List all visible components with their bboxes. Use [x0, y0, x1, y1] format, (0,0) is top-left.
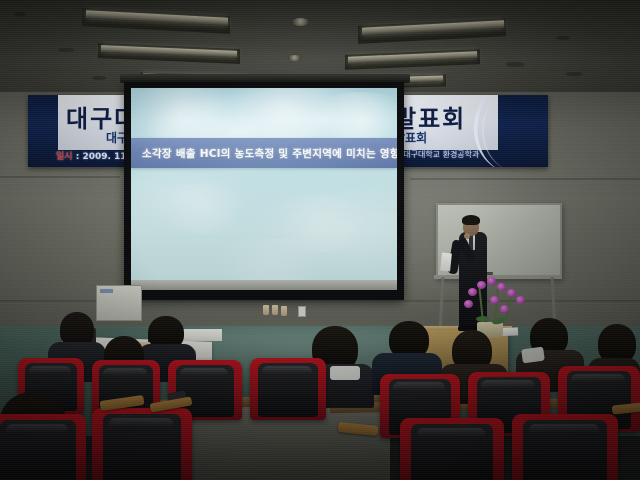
orchid-bloom-1	[468, 288, 477, 296]
seat-gloss	[417, 428, 485, 444]
wall-outlet	[298, 306, 306, 317]
banner-right-organizer: : 대구대학교 환경공학과	[398, 149, 479, 160]
radiator-label	[100, 289, 113, 293]
cloud-shape-6	[201, 238, 341, 286]
orchid-bloom-6	[516, 296, 525, 304]
screen-bottom-bar	[131, 280, 397, 290]
wall-seam-right	[410, 178, 640, 180]
ceiling-vent-2	[58, 48, 74, 52]
slide-title-text: 소각장 배출 HCl의 농도측정 및 주변지역에 미치는 영향	[131, 146, 397, 161]
seat-gloss	[262, 366, 312, 381]
ceiling-vent-5	[506, 62, 524, 67]
floor-cup-2	[272, 305, 278, 315]
seat-gloss	[29, 366, 71, 380]
seat-row1-1[interactable]	[0, 414, 86, 480]
seat-gloss	[180, 368, 228, 382]
slide-title-bar: 소각장 배출 HCl의 농도측정 및 주변지역에 미치는 영향	[131, 138, 397, 168]
banner-date-label: 일시	[56, 152, 73, 162]
floor-cup-1	[263, 305, 269, 315]
seat-gloss	[109, 418, 173, 434]
ceiling-vent-3	[92, 76, 106, 80]
ceiling-dome-fixture-1	[292, 18, 309, 26]
orchid-bloom-8	[490, 296, 499, 304]
seat-row1-3[interactable]	[400, 418, 504, 480]
seat-gloss	[103, 368, 147, 382]
presenter-papers	[440, 253, 452, 272]
orchid-bloom-9	[500, 305, 509, 313]
orchid-bloom-2	[477, 281, 486, 289]
audience-collar-back-4	[330, 366, 360, 380]
seat-gloss	[393, 382, 445, 397]
presentation-photo-scene: 대구다 대구 일시 : 2009. 11. 20(금) 발표회 발표회 : 대구…	[0, 0, 640, 480]
orchid-bloom-3	[487, 277, 496, 285]
floor-cup-3	[281, 306, 287, 316]
orchid-bloom-7	[464, 300, 473, 308]
ceiling-dome-fixture-2	[288, 55, 301, 61]
seat-gloss	[529, 424, 599, 440]
ceiling-vent-4	[556, 36, 570, 40]
seat-row1-4[interactable]	[512, 414, 618, 480]
orchid-bloom-5	[507, 289, 516, 297]
whiteboard-tray	[434, 275, 560, 279]
seat-gloss	[6, 424, 68, 440]
seat-gloss	[481, 380, 535, 395]
seat-row2-4[interactable]	[250, 358, 326, 420]
presenter-hand-at-chin	[464, 233, 470, 239]
ceiling-vent-6	[566, 72, 582, 76]
seat-row1-2[interactable]	[92, 408, 192, 480]
seat-gloss	[571, 374, 625, 389]
ceiling-vent-1	[14, 12, 26, 16]
banner-right: 발표회 발표회 : 대구대학교 환경공학과	[390, 95, 548, 167]
projection-screen: 소각장 배출 HCl의 농도측정 및 주변지역에 미치는 영향	[131, 88, 397, 286]
presenter-hair	[462, 215, 480, 225]
wall-seam-left	[0, 176, 120, 178]
cloud-shape-4	[155, 184, 251, 234]
orchid-bloom-4	[497, 283, 506, 291]
